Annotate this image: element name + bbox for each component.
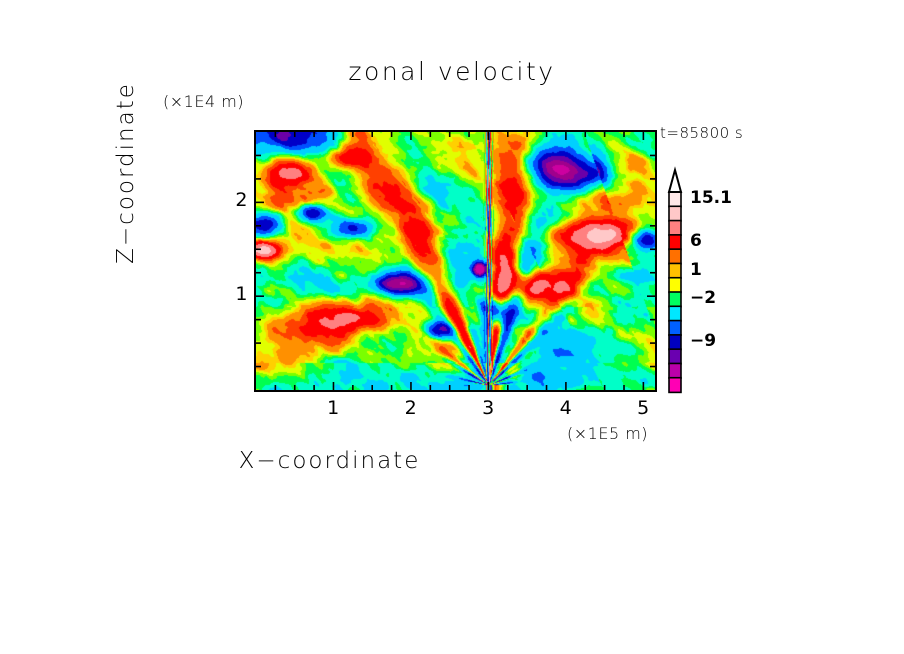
x-tick-label: 1: [323, 397, 343, 419]
colorbar-band: [669, 192, 681, 207]
colorbar-tick-label: −2: [690, 288, 716, 308]
colorbar-band: [669, 321, 681, 336]
x-axis-title: X−coordinate: [0, 448, 659, 474]
colorbar-band: [669, 235, 681, 250]
x-tick-label: 5: [633, 397, 653, 419]
x-tick-label: 4: [556, 397, 576, 419]
y-axis-unit-label: (×1E4 m): [163, 92, 244, 111]
colorbar-band: [669, 292, 681, 307]
colorbar-band: [669, 378, 681, 393]
colorbar-band: [669, 363, 681, 378]
colorbar-top-arrow: [669, 170, 681, 192]
x-axis-unit-label: (×1E5 m): [567, 424, 648, 443]
colorbar-tick-label: 15.1: [690, 188, 732, 208]
x-tick-label: 2: [401, 397, 421, 419]
colorbar-band: [669, 249, 681, 264]
colorbar-tick-label: −9: [690, 331, 716, 351]
y-tick-label: 1: [228, 283, 248, 305]
y-axis-title: Z−coordinate: [113, 43, 139, 303]
x-tick-label: 3: [478, 397, 498, 419]
colorbar-band: [669, 206, 681, 221]
contour-plot-area[interactable]: [254, 130, 657, 392]
colorbar-band: [669, 306, 681, 321]
colorbar-tick-label: 1: [690, 260, 702, 280]
colorbar-band: [669, 335, 681, 350]
colorbar-band: [669, 349, 681, 364]
colorbar-tick-label: 6: [690, 231, 702, 251]
velocity-field-heatmap: [256, 132, 655, 390]
colorbar-band: [669, 278, 681, 293]
y-tick-label: 2: [228, 189, 248, 211]
colorbar[interactable]: [655, 166, 695, 394]
colorbar-band: [669, 263, 681, 278]
time-stamp-label: t=85800 s: [660, 124, 743, 142]
colorbar-band: [669, 221, 681, 236]
